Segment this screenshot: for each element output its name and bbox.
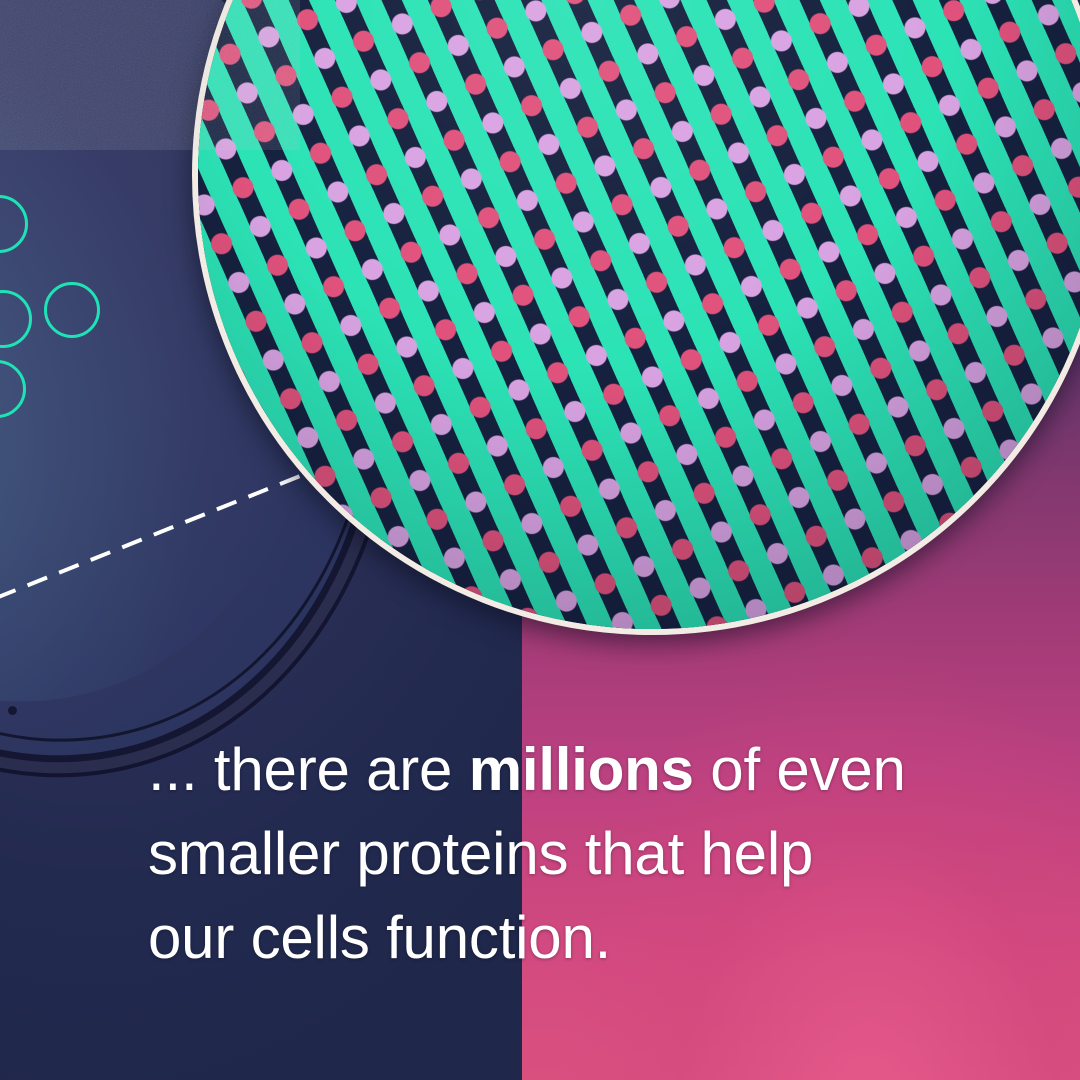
colony-circle — [44, 282, 100, 338]
protein-pattern — [192, 0, 1080, 635]
caption-line1-pre: ... there are — [148, 736, 469, 803]
infographic-canvas: ... there are millions of even smaller p… — [0, 0, 1080, 1080]
caption-emphasis: millions — [469, 736, 694, 803]
caption-text: ... there are millions of even smaller p… — [148, 728, 988, 980]
petri-dish-speck — [8, 706, 17, 715]
caption-line-1: ... there are millions of even — [148, 728, 988, 812]
caption-line-3: our cells function. — [148, 896, 988, 980]
magnified-view-circle — [192, 0, 1080, 635]
caption-line-2: smaller proteins that help — [148, 812, 988, 896]
caption-line1-post: of even — [694, 736, 906, 803]
